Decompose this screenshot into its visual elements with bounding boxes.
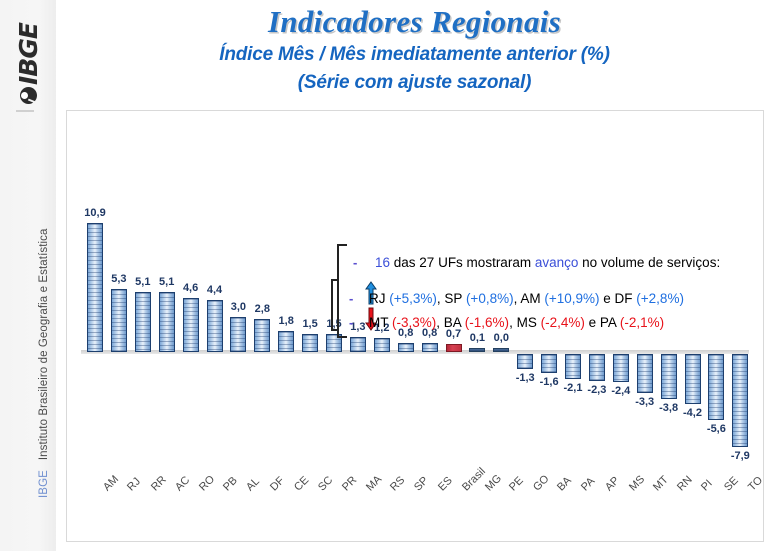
bar-group-ac[interactable]: 5,1AC [155, 111, 179, 541]
uf-advance-count: 16 [375, 255, 390, 270]
callout-separator: e [585, 315, 600, 330]
callout-bullet-1: - [353, 255, 357, 270]
callout-row-positive: RJ (+5,3%), SP (+0,8%), AM (+10,9%) e DF… [369, 291, 684, 306]
subtitle-line-1: Índice Mês / Mês imediatamente anterior … [56, 44, 773, 66]
bar-value-to: -7,9 [718, 450, 762, 462]
bar-go[interactable] [517, 354, 533, 369]
callout-text-before: das 27 UFs mostraram [390, 255, 535, 270]
bar-mg[interactable] [469, 348, 485, 352]
bar-pi[interactable] [685, 354, 701, 404]
callout-value-ms: (-2,4%) [541, 315, 585, 330]
bar-rr[interactable] [135, 292, 151, 352]
page-title: Indicadores Regionais [56, 4, 773, 40]
callout-uf-pa: PA [600, 315, 620, 330]
callout-value-mt: (-3,3%) [392, 315, 436, 330]
subtitle-line-2: (Série com ajuste sazonal) [56, 72, 773, 94]
callout-row-negative: MT (-3,3%), BA (-1,6%), MS (-2,4%) e PA … [369, 315, 664, 330]
category-label-to: TO [746, 474, 765, 493]
callout-value-rj: (+5,3%) [389, 291, 437, 306]
bar-sp[interactable] [398, 343, 414, 352]
institute-name-vertical: IBGE Instituto Brasileiro de Geografia e… [33, 78, 55, 498]
bar-group-rj[interactable]: 5,3RJ [107, 111, 131, 541]
callout-box: - 16 das 27 UFs mostraram avanço no volu… [329, 241, 773, 341]
sidebar-divider [16, 110, 34, 112]
institute-full-name: Instituto Brasileiro de Geografia e Esta… [38, 228, 50, 460]
bar-to[interactable] [732, 354, 748, 447]
callout-value-sp: (+0,8%) [466, 291, 514, 306]
callout-separator: , [509, 315, 517, 330]
callout-uf-am: AM [520, 291, 544, 306]
bar-mt[interactable] [637, 354, 653, 393]
callout-value-ba: (-1,6%) [465, 315, 509, 330]
callout-uf-sp: SP [444, 291, 466, 306]
bar-am[interactable] [87, 223, 103, 352]
bar-es[interactable] [422, 343, 438, 352]
callout-highlight-avanco: avanço [535, 255, 579, 270]
chart-panel: 10,9AM5,3RJ5,1RR5,1AC4,6RO4,4PB3,0AL2,8D… [66, 110, 764, 542]
callout-separator: e [600, 291, 615, 306]
callout-uf-ms: MS [517, 315, 541, 330]
bar-group-am[interactable]: 10,9AM [83, 111, 107, 541]
bar-ro[interactable] [183, 298, 199, 352]
bar-group-ro[interactable]: 4,6RO [179, 111, 203, 541]
callout-value-df: (+2,8%) [636, 291, 684, 306]
institute-acronym: IBGE [38, 470, 50, 498]
bar-pe[interactable] [493, 348, 509, 352]
bar-se[interactable] [708, 354, 724, 420]
callout-text-after: no volume de serviços: [578, 255, 720, 270]
callout-bullet-2: - [349, 291, 353, 306]
bar-ac[interactable] [159, 292, 175, 352]
callout-uf-df: DF [615, 291, 637, 306]
bar-ce[interactable] [278, 331, 294, 352]
bar-rj[interactable] [111, 289, 127, 352]
callout-value-pa: (-2,1%) [620, 315, 664, 330]
callout-uf-rj: RJ [369, 291, 389, 306]
bar-al[interactable] [230, 317, 246, 352]
bar-ap[interactable] [589, 354, 605, 381]
bracket-inner-icon [331, 279, 339, 331]
bar-brasil[interactable] [446, 344, 462, 352]
header: Indicadores Regionais Índice Mês / Mês i… [56, 0, 773, 104]
callout-value-am: (+10,9%) [544, 291, 599, 306]
callout-bullet-3: - [349, 315, 353, 330]
callout-uf-mt: MT [369, 315, 392, 330]
bar-group-rr[interactable]: 5,1RR [131, 111, 155, 541]
callout-separator: , [436, 315, 444, 330]
bar-ba[interactable] [541, 354, 557, 373]
ibge-logo-text: IBGE [16, 23, 41, 85]
bar-group-al[interactable]: 3,0AL [226, 111, 250, 541]
bar-ms[interactable] [613, 354, 629, 382]
bar-group-pb[interactable]: 4,4PB [203, 111, 227, 541]
bar-pa[interactable] [565, 354, 581, 379]
bar-sc[interactable] [302, 334, 318, 352]
left-sidebar: IBGE IBGE Instituto Brasileiro de Geogra… [0, 0, 56, 551]
callout-uf-ba: BA [444, 315, 465, 330]
bar-rn[interactable] [661, 354, 677, 399]
callout-row-summary: 16 das 27 UFs mostraram avanço no volume… [375, 255, 720, 270]
